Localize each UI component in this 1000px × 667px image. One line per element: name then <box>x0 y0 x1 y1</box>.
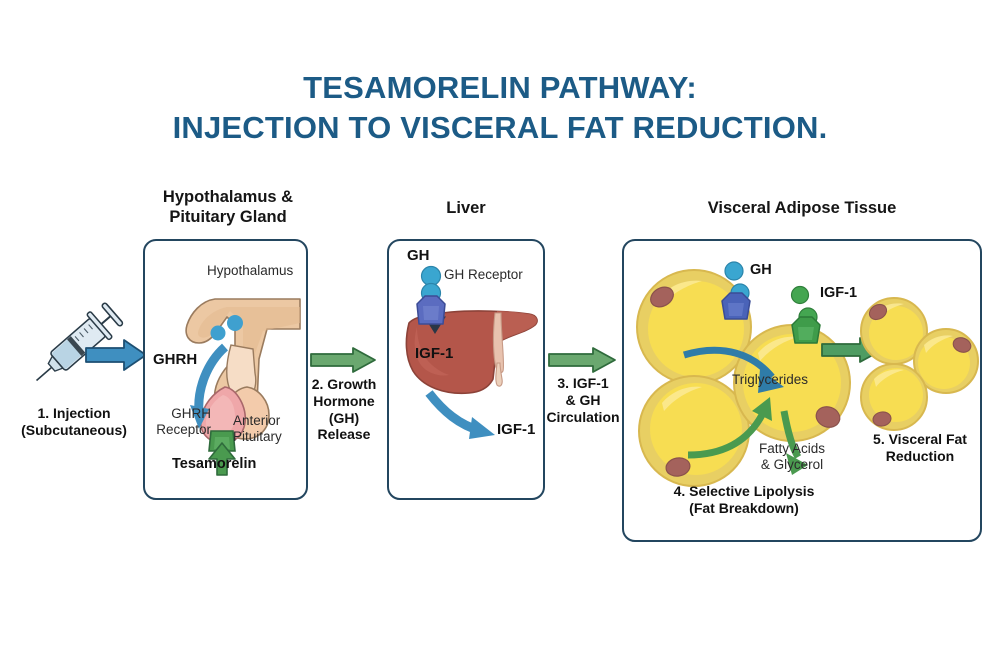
anterior-pituitary-line-1: Anterior <box>233 413 305 429</box>
step-1-line-1: 1. Injection <box>4 405 144 422</box>
step-2-line-4: Release <box>303 426 385 443</box>
anterior-pituitary-line-2: Pituitary <box>233 429 305 445</box>
step-5-line-2: Reduction <box>862 448 978 465</box>
igf1-output-label: IGF-1 <box>497 421 535 439</box>
step-5-label: 5. Visceral Fat Reduction <box>862 431 978 465</box>
anterior-pituitary-label: Anterior Pituitary <box>233 413 305 445</box>
title-line-2: INJECTION TO VISCERAL FAT REDUCTION. <box>0 108 1000 148</box>
step-2-line-2: Hormone <box>303 393 385 410</box>
triglycerides-label: Triglycerides <box>732 372 808 388</box>
gh-receptor-label: GH Receptor <box>444 267 523 283</box>
gh-label-liver: GH <box>407 247 430 265</box>
pituitary-header-line-1: Hypothalamus & <box>133 187 323 207</box>
step-5-line-1: 5. Visceral Fat <box>862 431 978 448</box>
fatty-acids-label: Fatty Acids & Glycerol <box>742 441 842 473</box>
title-line-1: TESAMORELIN PATHWAY: <box>303 70 697 105</box>
ghrh-receptor-line-2: Receptor <box>149 422 211 438</box>
arrow-gh-release <box>311 347 377 373</box>
ghrh-receptor-label: GHRH Receptor <box>149 406 211 438</box>
fatty-acids-line-1: Fatty Acids <box>742 441 842 457</box>
reduced-adipocytes-illustration <box>852 297 980 437</box>
tesamorelin-label: Tesamorelin <box>172 456 256 473</box>
ghrh-receptor-line-1: GHRH <box>149 406 211 422</box>
page-title: TESAMORELIN PATHWAY: INJECTION TO VISCER… <box>0 68 1000 147</box>
step-2-line-1: 2. Growth <box>303 376 385 393</box>
step-1-line-2: (Subcutaneous) <box>4 422 144 439</box>
step-4-label: 4. Selective Lipolysis (Fat Breakdown) <box>634 483 854 517</box>
ghrh-label: GHRH <box>153 351 197 369</box>
fatty-acids-line-2: & Glycerol <box>742 457 842 473</box>
step-1-label: 1. Injection (Subcutaneous) <box>4 405 144 439</box>
pituitary-header-line-2: Pituitary Gland <box>133 207 323 227</box>
gh-label-adipose: GH <box>750 262 772 279</box>
step-3-line-1: 3. IGF-1 <box>544 375 622 392</box>
pituitary-panel: Hypothalamus GHRH GHRH Receptor Anterior… <box>143 239 308 500</box>
liver-panel: GH GH Receptor IGF-1 IGF-1 <box>387 239 545 500</box>
pituitary-panel-header: Hypothalamus & Pituitary Gland <box>133 187 323 227</box>
adipose-panel: GH IGF-1 Triglycerides Fatty Acids & Gly… <box>622 239 982 542</box>
arrow-igf1-output <box>427 389 507 449</box>
hypothalamus-label: Hypothalamus <box>207 263 293 279</box>
diagram-canvas: TESAMORELIN PATHWAY: INJECTION TO VISCER… <box>0 0 1000 667</box>
arrow-injection-to-pituitary <box>86 338 148 372</box>
step-3-line-2: & GH <box>544 392 622 409</box>
step-2-label: 2. Growth Hormone (GH) Release <box>303 376 385 443</box>
step-4-line-2: (Fat Breakdown) <box>634 500 854 517</box>
arrow-igf1-gh-circulation <box>549 347 617 373</box>
adipose-panel-header: Visceral Adipose Tissue <box>622 198 982 218</box>
igf1-inside-liver-label: IGF-1 <box>415 345 453 363</box>
step-3-label: 3. IGF-1 & GH Circulation <box>544 375 622 425</box>
step-3-line-3: Circulation <box>544 409 622 426</box>
step-4-line-1: 4. Selective Lipolysis <box>634 483 854 500</box>
step-2-line-3: (GH) <box>303 410 385 427</box>
liver-panel-header: Liver <box>387 198 545 218</box>
